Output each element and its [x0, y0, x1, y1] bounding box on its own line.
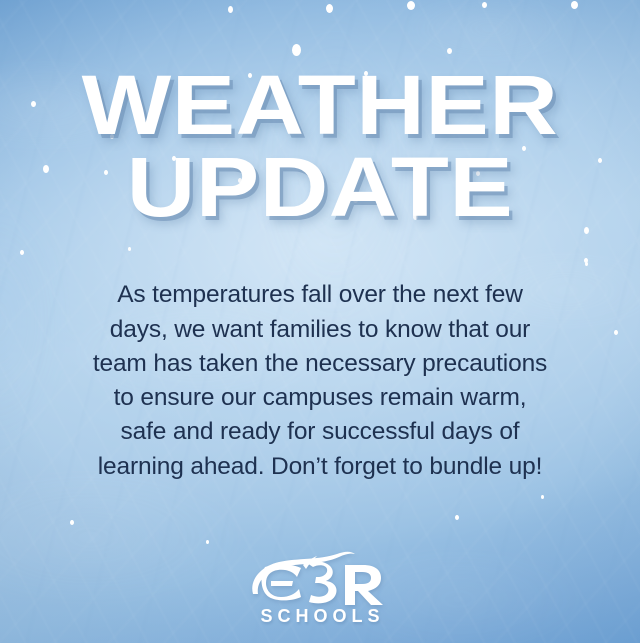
body-copy: As temperatures fall over the next few d…: [58, 278, 582, 484]
body-line: learning ahead. Don’t forget to bundle u…: [58, 450, 582, 484]
body-line: days, we want families to know that our: [58, 313, 582, 347]
headline-line-2: UPDATE: [0, 148, 640, 226]
body-line: team has taken the necessary precautions: [58, 347, 582, 381]
body-line: to ensure our campuses remain warm,: [58, 381, 582, 415]
logo-subtitle: SCHOOLS: [255, 606, 384, 627]
poster-content: WEATHER UPDATE As temperatures fall over…: [0, 0, 640, 643]
ebr-schools-logo: SCHOOLS: [220, 550, 420, 627]
headline: WEATHER UPDATE: [0, 66, 640, 226]
body-line: safe and ready for successful days of: [58, 415, 582, 449]
weather-update-poster: WEATHER UPDATE As temperatures fall over…: [0, 0, 640, 643]
body-line: As temperatures fall over the next few: [58, 278, 582, 312]
ebr-monogram-icon: [245, 550, 395, 608]
headline-line-1: WEATHER: [0, 66, 640, 144]
